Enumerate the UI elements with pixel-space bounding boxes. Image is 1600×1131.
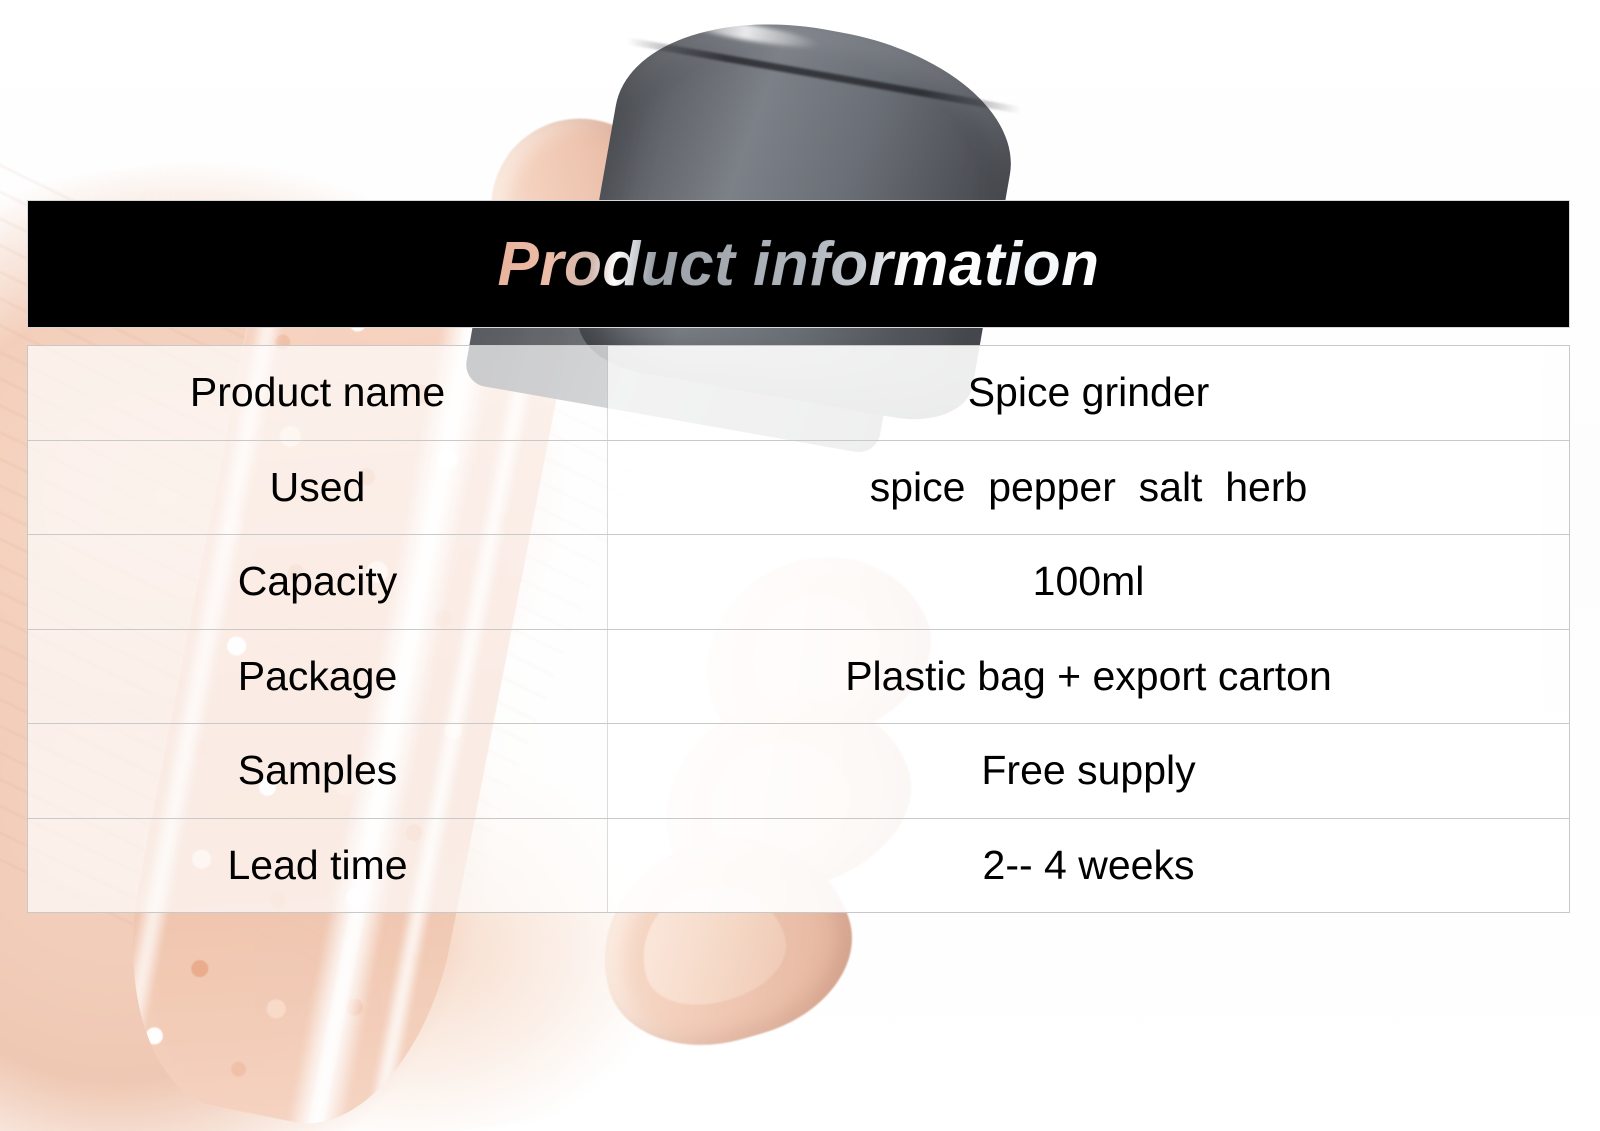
row-value: Plastic bag + export carton — [608, 630, 1569, 724]
cap-highlight — [670, 11, 820, 53]
row-label: Capacity — [28, 535, 608, 629]
table-row: Samples Free supply — [28, 724, 1569, 819]
row-value: spice pepper salt herb — [608, 441, 1569, 535]
row-value: 100ml — [608, 535, 1569, 629]
row-value: 2-- 4 weeks — [608, 819, 1569, 913]
table-row: Package Plastic bag + export carton — [28, 630, 1569, 725]
cap-ring-upper — [627, 37, 1022, 113]
table-row: Used spice pepper salt herb — [28, 441, 1569, 536]
row-label: Lead time — [28, 819, 608, 913]
row-label: Used — [28, 441, 608, 535]
table-row: Lead time 2-- 4 weeks — [28, 819, 1569, 913]
product-information-page: Product information Product name Spice g… — [0, 0, 1600, 1131]
table-row: Capacity 100ml — [28, 535, 1569, 630]
product-information-table: Product name Spice grinder Used spice pe… — [27, 345, 1570, 913]
page-title: Product information — [498, 229, 1100, 300]
table-row: Product name Spice grinder — [28, 346, 1569, 441]
banner: Product information — [27, 200, 1570, 328]
row-value: Free supply — [608, 724, 1569, 818]
row-label: Samples — [28, 724, 608, 818]
row-value: Spice grinder — [608, 346, 1569, 440]
row-label: Product name — [28, 346, 608, 440]
row-label: Package — [28, 630, 608, 724]
